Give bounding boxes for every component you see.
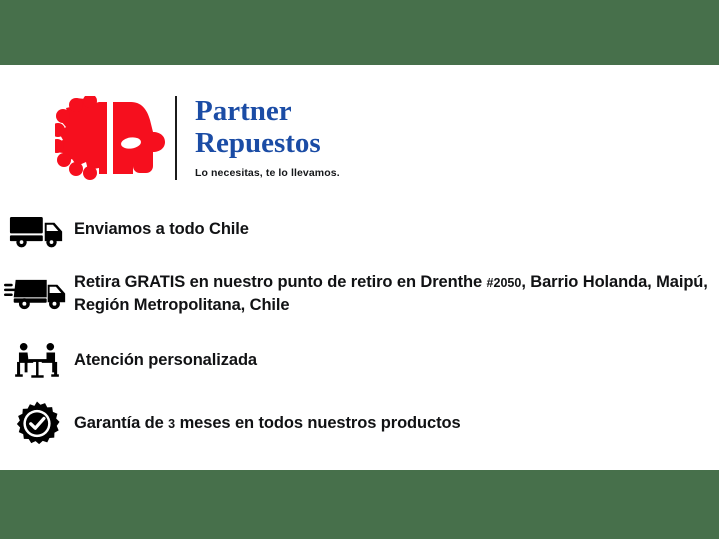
guarantee-text-part1: Garantía de xyxy=(74,414,168,432)
pickup-address-number: #2050 xyxy=(487,276,522,290)
brand-title-line1: Partner xyxy=(195,95,292,127)
brand-text-block: Partner Repuestos Lo necesitas, te lo ll… xyxy=(195,97,340,179)
brand-title: Partner Repuestos xyxy=(195,97,340,158)
gear-car-logo-icon xyxy=(55,96,167,180)
feature-row-pickup: Retira GRATIS en nuestro punto de retiro… xyxy=(0,268,719,318)
brand-tagline: Lo necesitas, te lo llevamos. xyxy=(195,167,340,179)
bottom-green-band xyxy=(0,470,719,539)
feature-label-attention: Atención personalizada xyxy=(74,348,257,371)
feature-label-guarantee: Garantía de 3 meses en todos nuestros pr… xyxy=(74,411,461,435)
feature-label-pickup: Retira GRATIS en nuestro punto de retiro… xyxy=(74,270,719,316)
feature-row-shipping: Enviamos a todo Chile xyxy=(0,206,719,256)
brand-divider xyxy=(175,96,177,180)
feature-row-attention: Atención personalizada xyxy=(0,337,719,385)
feature-label-shipping: Enviamos a todo Chile xyxy=(74,217,249,240)
top-green-band xyxy=(0,0,719,65)
delivery-truck-icon xyxy=(0,206,74,256)
brand-title-line2: Repuestos xyxy=(195,129,340,158)
people-at-table-icon xyxy=(0,337,74,385)
guarantee-badge-check-icon xyxy=(0,399,74,449)
promo-banner: Partner Repuestos Lo necesitas, te lo ll… xyxy=(0,0,719,539)
brand-header: Partner Repuestos Lo necesitas, te lo ll… xyxy=(55,88,340,188)
fast-delivery-truck-icon xyxy=(0,268,74,318)
feature-row-guarantee: Garantía de 3 meses en todos nuestros pr… xyxy=(0,399,719,449)
guarantee-text-part2: meses en todos nuestros productos xyxy=(175,414,460,432)
pickup-text-part1: Retira GRATIS en nuestro punto de retiro… xyxy=(74,273,487,291)
